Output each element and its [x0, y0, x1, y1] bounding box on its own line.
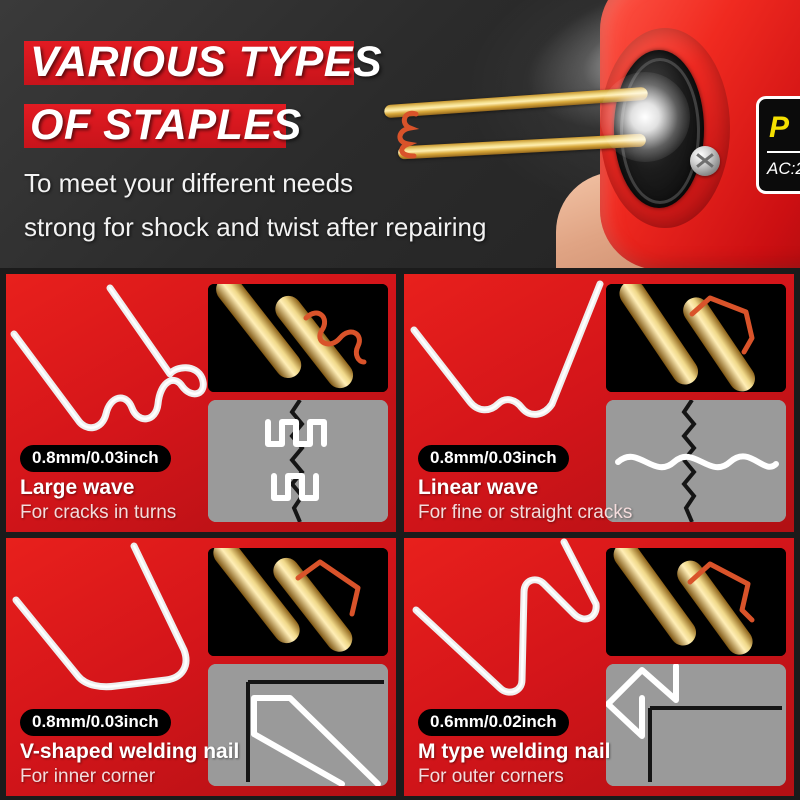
staple-types-grid: 0.8mm/0.03inch Large wave For cracks in … [0, 268, 800, 800]
hot-rod-photo-m-type [606, 548, 786, 656]
hot-rod-photo-v-shaped [208, 548, 388, 656]
subtitle-line-2: strong for shock and twist after repairi… [24, 212, 486, 243]
staple-type-name: Linear wave [418, 476, 648, 500]
staple-usage-text: For inner corner [20, 766, 250, 788]
device-voltage-text: AC:2 [767, 159, 800, 179]
device-brand-text: P [769, 111, 790, 145]
staple-card-linear-wave[interactable]: 0.8mm/0.03inch Linear wave For fine or s… [404, 274, 794, 532]
device-spec-label: P AC:2 [756, 96, 800, 194]
hot-rod-photo-linear-wave [606, 284, 786, 392]
size-badge: 0.8mm/0.03inch [418, 445, 569, 472]
page-title-line-2: OF STAPLES [30, 101, 302, 150]
v-shaped-staple-icon [6, 538, 218, 718]
size-badge: 0.8mm/0.03inch [20, 445, 171, 472]
hot-staple-icon [364, 108, 420, 160]
staple-label-large-wave: 0.8mm/0.03inch Large wave For cracks in … [20, 445, 250, 524]
product-infographic: P AC:2 VARIOUS TYPES OF STAPLES To meet … [0, 0, 800, 800]
staple-usage-text: For fine or straight cracks [418, 502, 648, 524]
staple-usage-text: For outer corners [418, 766, 648, 788]
staple-label-linear-wave: 0.8mm/0.03inch Linear wave For fine or s… [418, 445, 648, 524]
staple-card-v-shaped[interactable]: 0.8mm/0.03inch V-shaped welding nail For… [6, 538, 396, 796]
size-badge: 0.8mm/0.03inch [20, 709, 171, 736]
staple-type-name: Large wave [20, 476, 250, 500]
screw-icon [690, 146, 720, 176]
staple-label-m-type: 0.6mm/0.02inch M type welding nail For o… [418, 709, 648, 788]
hot-rod-photo-large-wave [208, 284, 388, 392]
staple-label-v-shaped: 0.8mm/0.03inch V-shaped welding nail For… [20, 709, 250, 788]
label-divider [767, 151, 800, 153]
large-wave-staple-icon [6, 274, 218, 454]
page-title-line-1: VARIOUS TYPES [30, 38, 382, 87]
size-badge: 0.6mm/0.02inch [418, 709, 569, 736]
linear-wave-staple-icon [404, 274, 616, 454]
staple-card-m-type[interactable]: 0.6mm/0.02inch M type welding nail For o… [404, 538, 794, 796]
staple-card-large-wave[interactable]: 0.8mm/0.03inch Large wave For cracks in … [6, 274, 396, 532]
subtitle-line-1: To meet your different needs [24, 168, 353, 199]
m-type-staple-icon [404, 538, 616, 718]
header-banner: P AC:2 VARIOUS TYPES OF STAPLES To meet … [0, 0, 800, 268]
staple-type-name: V-shaped welding nail [20, 740, 250, 764]
led-glow-icon [600, 72, 690, 162]
staple-type-name: M type welding nail [418, 740, 648, 764]
staple-usage-text: For cracks in turns [20, 502, 250, 524]
